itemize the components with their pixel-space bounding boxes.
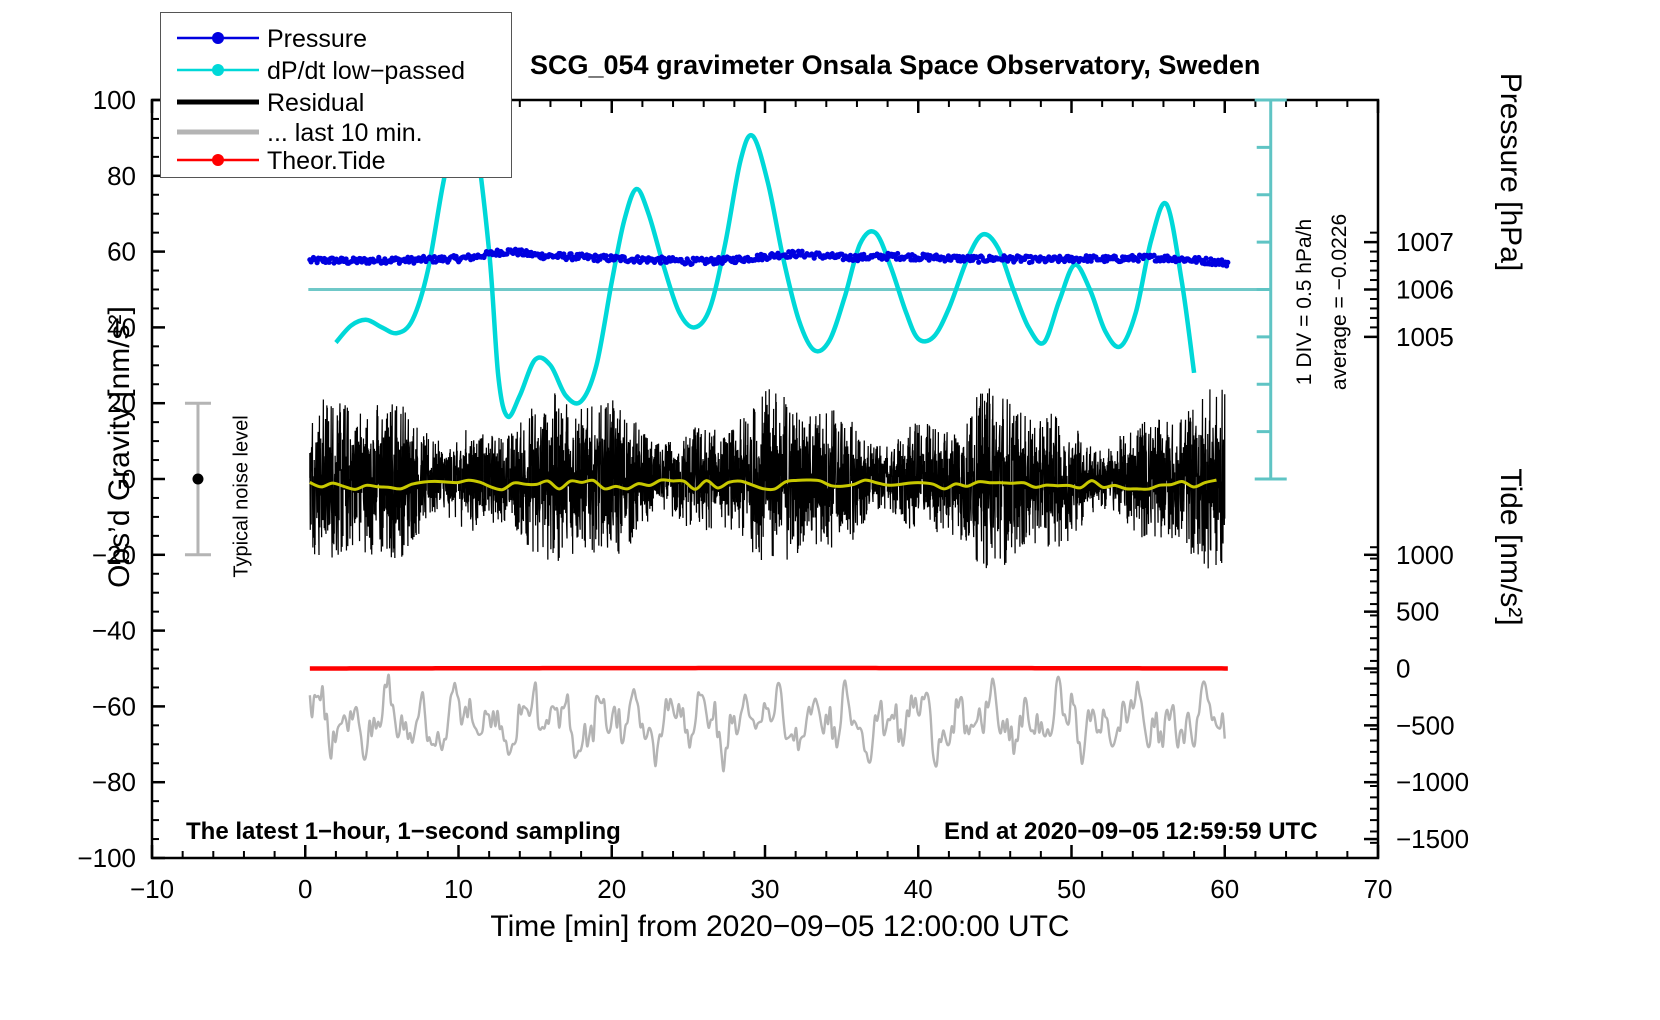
pressure-tick-label: 1005 [1396,322,1454,352]
x-tick-label: 0 [298,874,312,904]
legend-label-pressure: Pressure [267,25,367,54]
chart-title: SCG_054 gravimeter Onsala Space Observat… [530,50,1260,81]
noise-bar-center-dot [192,474,203,485]
x-tick-label: 70 [1364,874,1393,904]
tide-tick-label: −500 [1396,710,1455,740]
legend-label-tide: Theor.Tide [267,147,386,176]
x-tick-label: 40 [904,874,933,904]
legend-marker-tide-icon [175,145,261,175]
x-tick-label: 20 [597,874,626,904]
legend-label-residual: Residual [267,89,364,118]
tide-tick-label: 500 [1396,597,1439,627]
legend-label-last10: ... last 10 min. [267,119,423,148]
tide-tick-label: −1000 [1396,767,1469,797]
x-tick-label: −10 [130,874,174,904]
y-tick-label: 100 [93,85,136,115]
x-tick-label: 60 [1210,874,1239,904]
legend-item-dpdt: dP/dt low−passed [161,55,511,85]
legend-marker-last10-icon [175,117,261,147]
pressure-tick-label: 1007 [1396,227,1454,257]
y-axis-label-right-pressure: Pressure [hPa] [1493,0,1527,382]
y-tick-label: −100 [77,843,136,873]
legend-marker-residual-icon [175,87,261,117]
legend-label-dpdt: dP/dt low−passed [267,57,465,86]
x-tick-label: 50 [1057,874,1086,904]
y-axis-label-right-tide: Tide [nm/s²] [1493,367,1527,727]
legend-item-residual: Residual [161,87,511,117]
legend-item-tide: Theor.Tide [161,145,511,175]
x-tick-label: 30 [751,874,780,904]
legend-item-last10: ... last 10 min. [161,117,511,147]
legend-marker-dpdt-icon [175,55,261,85]
tide-tick-label: −1500 [1396,824,1469,854]
x-tick-label: 10 [444,874,473,904]
annotation-div-scale: 1 DIV = 0.5 hPa/h [1293,187,1317,417]
annotation-bottom-right: End at 2020−09−05 12:59:59 UTC [944,818,1318,846]
annotation-typical-noise-level: Typical noise level [231,397,254,597]
legend-marker-pressure-icon [175,23,261,53]
y-tick-label: −80 [92,767,136,797]
chart-legend: Pressure dP/dt low−passed Residual ... l… [160,12,512,178]
pressure-tick-label: 1006 [1396,275,1454,305]
chart-figure: −10010203040506070100806040200−20−40−60−… [0,0,1660,1020]
annotation-bottom-left: The latest 1−hour, 1−second sampling [186,818,621,846]
y-axis-label-left: Obs’d Gravity [nm/s²] [103,187,137,707]
tide-tick-label: 1000 [1396,540,1454,570]
x-axis-label: Time [min] from 2020−09−05 12:00:00 UTC [330,910,1230,944]
annotation-average: average = −0.0226 [1328,187,1352,417]
tide-tick-label: 0 [1396,654,1410,684]
legend-item-pressure: Pressure [161,23,511,53]
